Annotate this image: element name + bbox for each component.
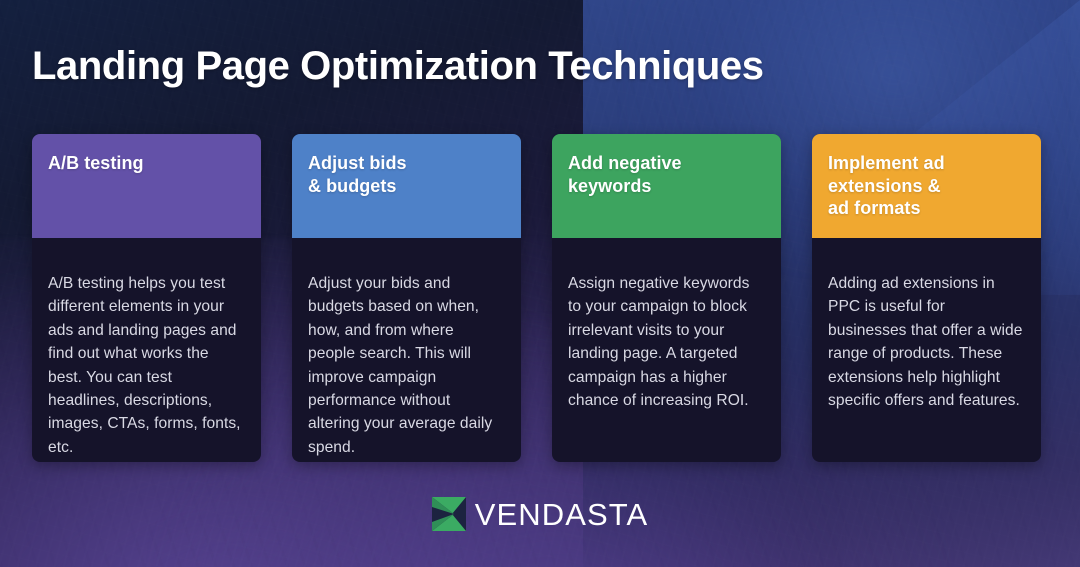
card-description: Adding ad extensions in PPC is useful fo…	[828, 272, 1025, 412]
page-title: Landing Page Optimization Techniques	[32, 44, 764, 90]
card-header: A/B testing	[32, 134, 261, 238]
card-header: Add negative keywords	[552, 134, 781, 238]
card-header: Adjust bids & budgets	[292, 134, 521, 238]
card-body: Adding ad extensions in PPC is useful fo…	[812, 238, 1041, 462]
card-title: Adjust bids & budgets	[308, 152, 505, 197]
card-description: A/B testing helps you test different ele…	[48, 272, 245, 459]
card-ab-testing: A/B testing A/B testing helps you test d…	[32, 134, 261, 462]
card-body: A/B testing helps you test different ele…	[32, 238, 261, 462]
card-body: Adjust your bids and budgets based on wh…	[292, 238, 521, 462]
footer-branding: VENDASTA	[0, 497, 1080, 531]
card-header: Implement ad extensions & ad formats	[812, 134, 1041, 238]
card-adjust-bids-budgets: Adjust bids & budgets Adjust your bids a…	[292, 134, 521, 462]
card-add-negative-keywords: Add negative keywords Assign negative ke…	[552, 134, 781, 462]
card-description: Adjust your bids and budgets based on wh…	[308, 272, 505, 459]
infographic-canvas: Landing Page Optimization Techniques A/B…	[0, 0, 1080, 567]
card-title: A/B testing	[48, 152, 245, 175]
vendasta-logo-icon	[432, 497, 466, 531]
vendasta-wordmark: VENDASTA	[475, 499, 649, 530]
card-title: Implement ad extensions & ad formats	[828, 152, 1025, 220]
card-implement-ad-extensions: Implement ad extensions & ad formats Add…	[812, 134, 1041, 462]
card-list: A/B testing A/B testing helps you test d…	[32, 134, 1044, 462]
card-description: Assign negative keywords to your campaig…	[568, 272, 765, 412]
card-title: Add negative keywords	[568, 152, 765, 197]
card-body: Assign negative keywords to your campaig…	[552, 238, 781, 462]
